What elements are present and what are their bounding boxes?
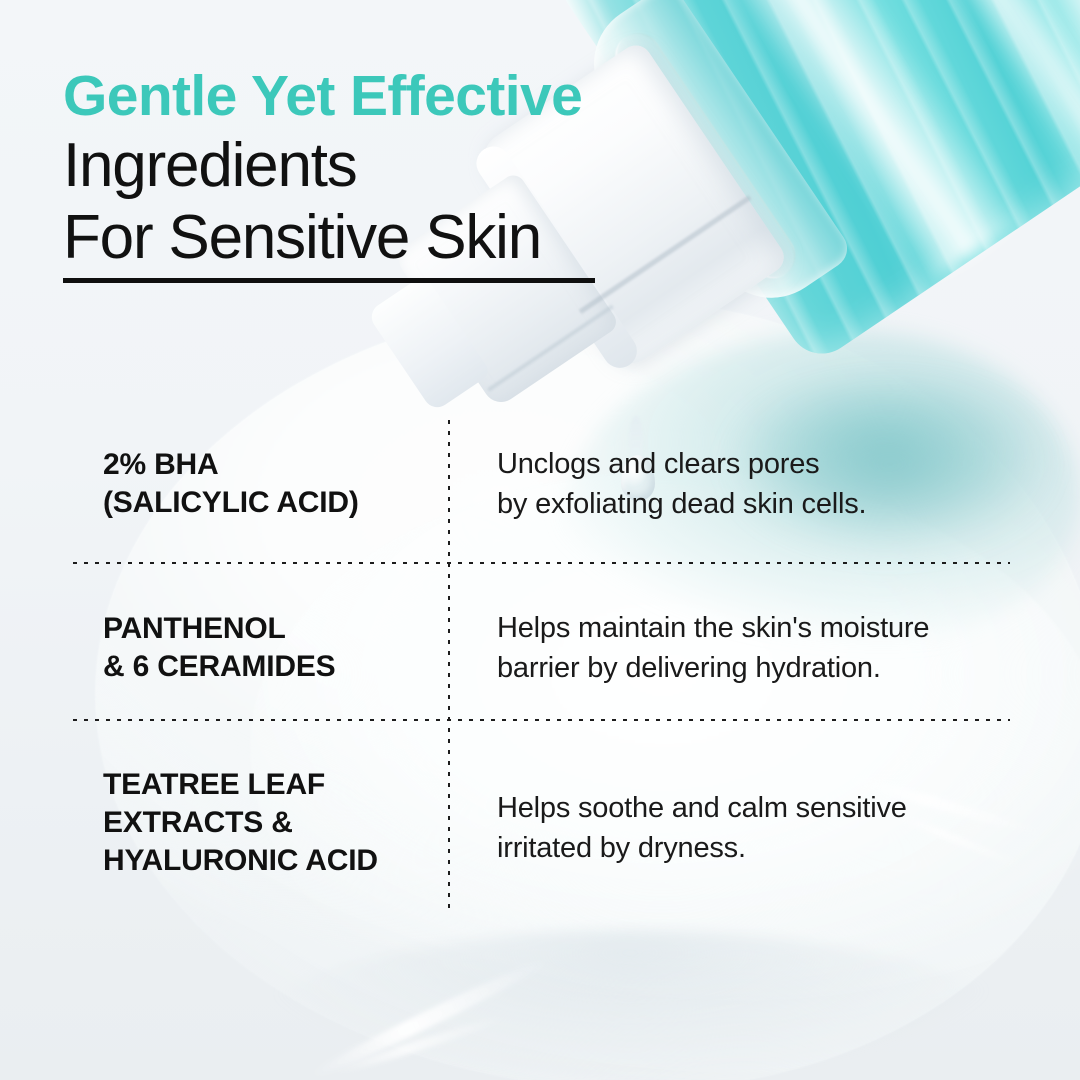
ingredient-desc-2-line-1: Helps maintain the skin's moisture <box>497 608 1017 648</box>
ingredient-name-2-line-2: & 6 CERAMIDES <box>103 648 433 686</box>
ingredient-name-3: TEATREE LEAF EXTRACTS & HYALURONIC ACID <box>103 766 433 880</box>
ingredient-name-3-line-3: HYALURONIC ACID <box>103 842 433 880</box>
ingredient-name-1: 2% BHA (SALICYLIC ACID) <box>103 446 433 522</box>
ingredient-name-1-line-2: (SALICYLIC ACID) <box>103 484 433 522</box>
ingredients-table: 2% BHA (SALICYLIC ACID) Unclogs and clea… <box>0 0 1080 1080</box>
table-row-divider-1 <box>73 562 1010 564</box>
table-row-divider-2 <box>73 719 1010 721</box>
ingredient-name-3-line-2: EXTRACTS & <box>103 804 433 842</box>
ingredient-desc-1-line-2: by exfoliating dead skin cells. <box>497 484 1017 524</box>
ingredient-name-1-line-1: 2% BHA <box>103 446 433 484</box>
ingredient-desc-3: Helps soothe and calm sensitive irritate… <box>497 788 1017 868</box>
ingredient-desc-3-line-2: irritated by dryness. <box>497 828 1017 868</box>
ingredient-desc-1: Unclogs and clears pores by exfoliating … <box>497 444 1017 524</box>
ingredient-desc-1-line-1: Unclogs and clears pores <box>497 444 1017 484</box>
ingredient-desc-2: Helps maintain the skin's moisture barri… <box>497 608 1017 688</box>
ingredient-desc-3-line-1: Helps soothe and calm sensitive <box>497 788 1017 828</box>
table-vertical-divider <box>448 420 450 912</box>
ingredient-name-3-line-1: TEATREE LEAF <box>103 766 433 804</box>
infographic-canvas: Gentle Yet Effective Ingredients For Sen… <box>0 0 1080 1080</box>
ingredient-name-2-line-1: PANTHENOL <box>103 610 433 648</box>
ingredient-desc-2-line-2: barrier by delivering hydration. <box>497 648 1017 688</box>
ingredient-name-2: PANTHENOL & 6 CERAMIDES <box>103 610 433 686</box>
